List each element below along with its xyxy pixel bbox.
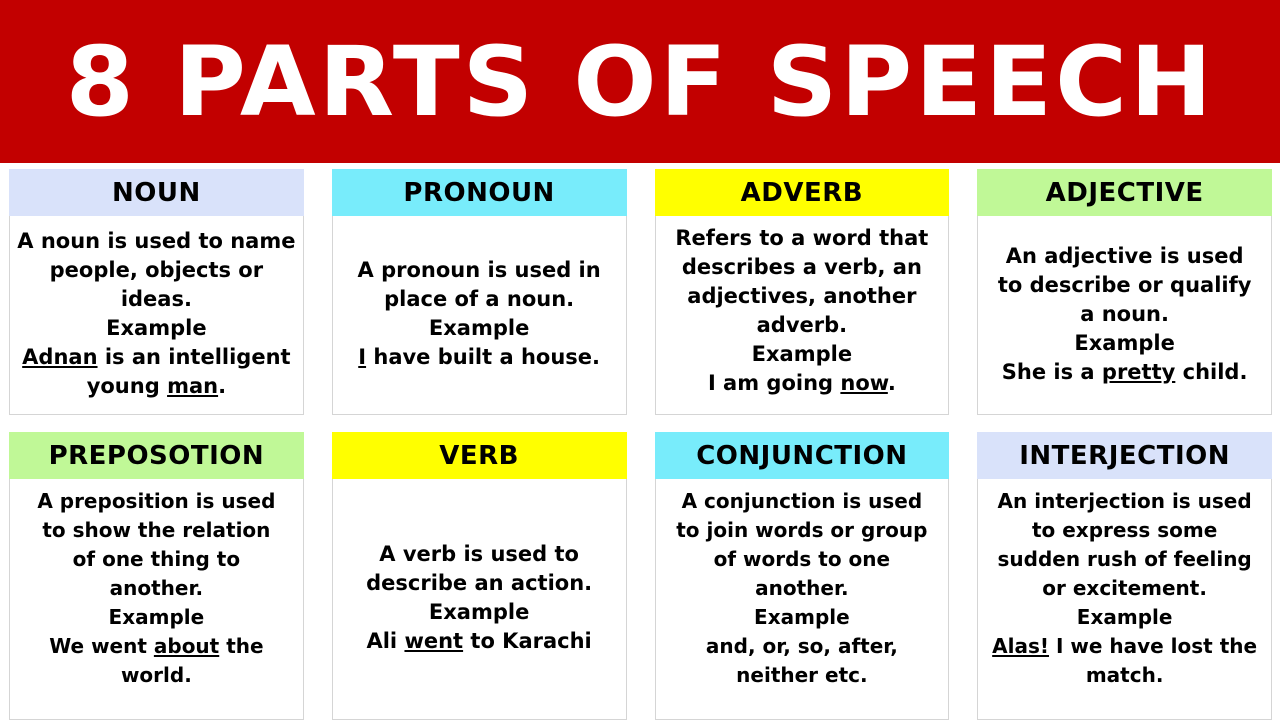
card-text-line: and, or, so, after, bbox=[662, 632, 943, 661]
card-text-line: Example bbox=[339, 598, 620, 627]
card-text-line: another. bbox=[662, 574, 943, 603]
text-run: A verb is used to bbox=[379, 542, 579, 566]
poster-root: 8 PARTS OF SPEECH NOUNA noun is used to … bbox=[0, 0, 1280, 720]
text-run: to Karachi bbox=[463, 629, 592, 653]
text-run: match. bbox=[1086, 663, 1164, 687]
card-text-line: Adnan is an intelligent bbox=[16, 343, 297, 372]
card-text-line: to show the relation bbox=[16, 516, 297, 545]
card-text-line: adjectives, another bbox=[662, 282, 943, 311]
text-run: young bbox=[87, 374, 167, 398]
text-run: world. bbox=[121, 663, 192, 687]
text-run: I we have lost the bbox=[1049, 634, 1257, 658]
highlighted-word: went bbox=[404, 629, 463, 653]
card-text-line: Example bbox=[16, 314, 297, 343]
text-run: . bbox=[218, 374, 226, 398]
text-run: A conjunction is used bbox=[682, 489, 923, 513]
card-text-line: to describe or qualify bbox=[984, 271, 1265, 300]
card-body-verb: A verb is used todescribe an action.Exam… bbox=[332, 479, 627, 720]
text-run: child. bbox=[1175, 360, 1247, 384]
card-text-line: Example bbox=[984, 603, 1265, 632]
text-run: describes a verb, an bbox=[682, 255, 922, 279]
card-text-line: to join words or group bbox=[662, 516, 943, 545]
text-run: Example bbox=[752, 342, 852, 366]
card-title-pronoun: PRONOUN bbox=[332, 169, 627, 216]
card-text-line: describes a verb, an bbox=[662, 253, 943, 282]
card-text-line: ideas. bbox=[16, 285, 297, 314]
card-text-line: Ali went to Karachi bbox=[339, 627, 620, 656]
card-title-adjective: ADJECTIVE bbox=[977, 169, 1272, 216]
card-body-adverb: Refers to a word thatdescribes a verb, a… bbox=[655, 216, 950, 415]
text-run: have built a house. bbox=[366, 345, 600, 369]
highlighted-word: pretty bbox=[1102, 360, 1175, 384]
text-run: people, objects or bbox=[50, 258, 263, 282]
text-run: sudden rush of feeling bbox=[998, 547, 1252, 571]
card-text-line: Example bbox=[662, 603, 943, 632]
highlighted-word: now bbox=[840, 371, 887, 395]
highlighted-word: Alas! bbox=[992, 634, 1049, 658]
card-body-adjective: An adjective is usedto describe or quali… bbox=[977, 216, 1272, 415]
text-run: place of a noun. bbox=[384, 287, 574, 311]
card-text-line: She is a pretty child. bbox=[984, 358, 1265, 387]
text-run: to show the relation bbox=[42, 518, 270, 542]
card-text-line: match. bbox=[984, 661, 1265, 690]
card-text-line: neither etc. bbox=[662, 661, 943, 690]
card-body-pronoun: A pronoun is used inplace of a noun.Exam… bbox=[332, 216, 627, 415]
text-run: . bbox=[888, 371, 896, 395]
highlighted-word: I bbox=[358, 345, 366, 369]
highlighted-word: Adnan bbox=[22, 345, 97, 369]
text-run: Example bbox=[1074, 331, 1174, 355]
page-title: 8 PARTS OF SPEECH bbox=[65, 34, 1214, 130]
card-body-preposotion: A preposition is usedto show the relatio… bbox=[9, 479, 304, 720]
text-run: A preposition is used bbox=[37, 489, 275, 513]
part-of-speech-card-interjection: INTERJECTIONAn interjection is usedto ex… bbox=[977, 432, 1272, 720]
card-text-line: young man. bbox=[16, 372, 297, 401]
card-text-line: Alas! I we have lost the bbox=[984, 632, 1265, 661]
text-run: Example bbox=[754, 605, 850, 629]
card-text-line: A verb is used to bbox=[339, 540, 620, 569]
card-text-line: A pronoun is used in bbox=[339, 256, 620, 285]
text-run: and, or, so, after, bbox=[706, 634, 898, 658]
card-text-line: place of a noun. bbox=[339, 285, 620, 314]
text-run: Example bbox=[106, 316, 206, 340]
text-run: She is a bbox=[1002, 360, 1102, 384]
text-run: is an intelligent bbox=[98, 345, 291, 369]
text-run: a noun. bbox=[1080, 302, 1169, 326]
text-run: adjectives, another bbox=[687, 284, 916, 308]
card-text-line: I have built a house. bbox=[339, 343, 620, 372]
part-of-speech-card-noun: NOUNA noun is used to namepeople, object… bbox=[9, 169, 304, 415]
card-text-line: Example bbox=[984, 329, 1265, 358]
card-title-adverb: ADVERB bbox=[655, 169, 950, 216]
card-title-verb: VERB bbox=[332, 432, 627, 479]
card-text-line: a noun. bbox=[984, 300, 1265, 329]
card-text-line: sudden rush of feeling bbox=[984, 545, 1265, 574]
card-text-line: We went about the bbox=[16, 632, 297, 661]
card-body-interjection: An interjection is usedto express somesu… bbox=[977, 479, 1272, 720]
text-run: Ali bbox=[366, 629, 404, 653]
card-text-line: I am going now. bbox=[662, 369, 943, 398]
text-run: A noun is used to name bbox=[17, 229, 295, 253]
part-of-speech-card-adjective: ADJECTIVEAn adjective is usedto describe… bbox=[977, 169, 1272, 415]
card-text-line: An interjection is used bbox=[984, 487, 1265, 516]
text-run: Example bbox=[429, 316, 529, 340]
card-text-line: or excitement. bbox=[984, 574, 1265, 603]
text-run: or excitement. bbox=[1042, 576, 1207, 600]
card-title-noun: NOUN bbox=[9, 169, 304, 216]
text-run: We went bbox=[49, 634, 154, 658]
card-text-line: adverb. bbox=[662, 311, 943, 340]
card-text-line: A conjunction is used bbox=[662, 487, 943, 516]
text-run: Example bbox=[429, 600, 529, 624]
card-text-line: A noun is used to name bbox=[16, 227, 297, 256]
part-of-speech-card-conjunction: CONJUNCTIONA conjunction is usedto join … bbox=[655, 432, 950, 720]
text-run: to join words or group bbox=[676, 518, 927, 542]
text-run: ideas. bbox=[121, 287, 192, 311]
card-text-line: of one thing to bbox=[16, 545, 297, 574]
text-run: to express some bbox=[1032, 518, 1217, 542]
text-run: describe an action. bbox=[366, 571, 592, 595]
part-of-speech-card-adverb: ADVERBRefers to a word thatdescribes a v… bbox=[655, 169, 950, 415]
part-of-speech-card-verb: VERBA verb is used todescribe an action.… bbox=[332, 432, 627, 720]
card-text-line: another. bbox=[16, 574, 297, 603]
card-text-line: describe an action. bbox=[339, 569, 620, 598]
text-run: of words to one bbox=[714, 547, 890, 571]
part-of-speech-card-preposotion: PREPOSOTIONA preposition is usedto show … bbox=[9, 432, 304, 720]
text-run: the bbox=[219, 634, 263, 658]
text-run: to describe or qualify bbox=[998, 273, 1252, 297]
card-text-line: people, objects or bbox=[16, 256, 297, 285]
card-text-line: A preposition is used bbox=[16, 487, 297, 516]
text-run: Refers to a word that bbox=[675, 226, 928, 250]
text-run: A pronoun is used in bbox=[358, 258, 601, 282]
card-text-line: of words to one bbox=[662, 545, 943, 574]
card-title-interjection: INTERJECTION bbox=[977, 432, 1272, 479]
card-text-line: world. bbox=[16, 661, 297, 690]
card-body-conjunction: A conjunction is usedto join words or gr… bbox=[655, 479, 950, 720]
text-run: neither etc. bbox=[736, 663, 867, 687]
card-title-preposotion: PREPOSOTION bbox=[9, 432, 304, 479]
text-run: I am going bbox=[708, 371, 840, 395]
text-run: another. bbox=[110, 576, 203, 600]
text-run: adverb. bbox=[757, 313, 848, 337]
text-run: Example bbox=[1077, 605, 1173, 629]
parts-of-speech-grid: NOUNA noun is used to namepeople, object… bbox=[9, 169, 1272, 717]
card-text-line: Example bbox=[662, 340, 943, 369]
card-text-line: to express some bbox=[984, 516, 1265, 545]
text-run: another. bbox=[755, 576, 848, 600]
text-run: An adjective is used bbox=[1006, 244, 1244, 268]
card-text-line: Example bbox=[339, 314, 620, 343]
text-run: An interjection is used bbox=[998, 489, 1252, 513]
card-text-line: An adjective is used bbox=[984, 242, 1265, 271]
highlighted-word: about bbox=[154, 634, 219, 658]
card-text-line: Example bbox=[16, 603, 297, 632]
highlighted-word: man bbox=[167, 374, 218, 398]
card-title-conjunction: CONJUNCTION bbox=[655, 432, 950, 479]
text-run: of one thing to bbox=[73, 547, 240, 571]
part-of-speech-card-pronoun: PRONOUNA pronoun is used inplace of a no… bbox=[332, 169, 627, 415]
title-banner: 8 PARTS OF SPEECH bbox=[0, 0, 1280, 163]
card-body-noun: A noun is used to namepeople, objects or… bbox=[9, 216, 304, 415]
card-text-line: Refers to a word that bbox=[662, 224, 943, 253]
text-run: Example bbox=[109, 605, 205, 629]
